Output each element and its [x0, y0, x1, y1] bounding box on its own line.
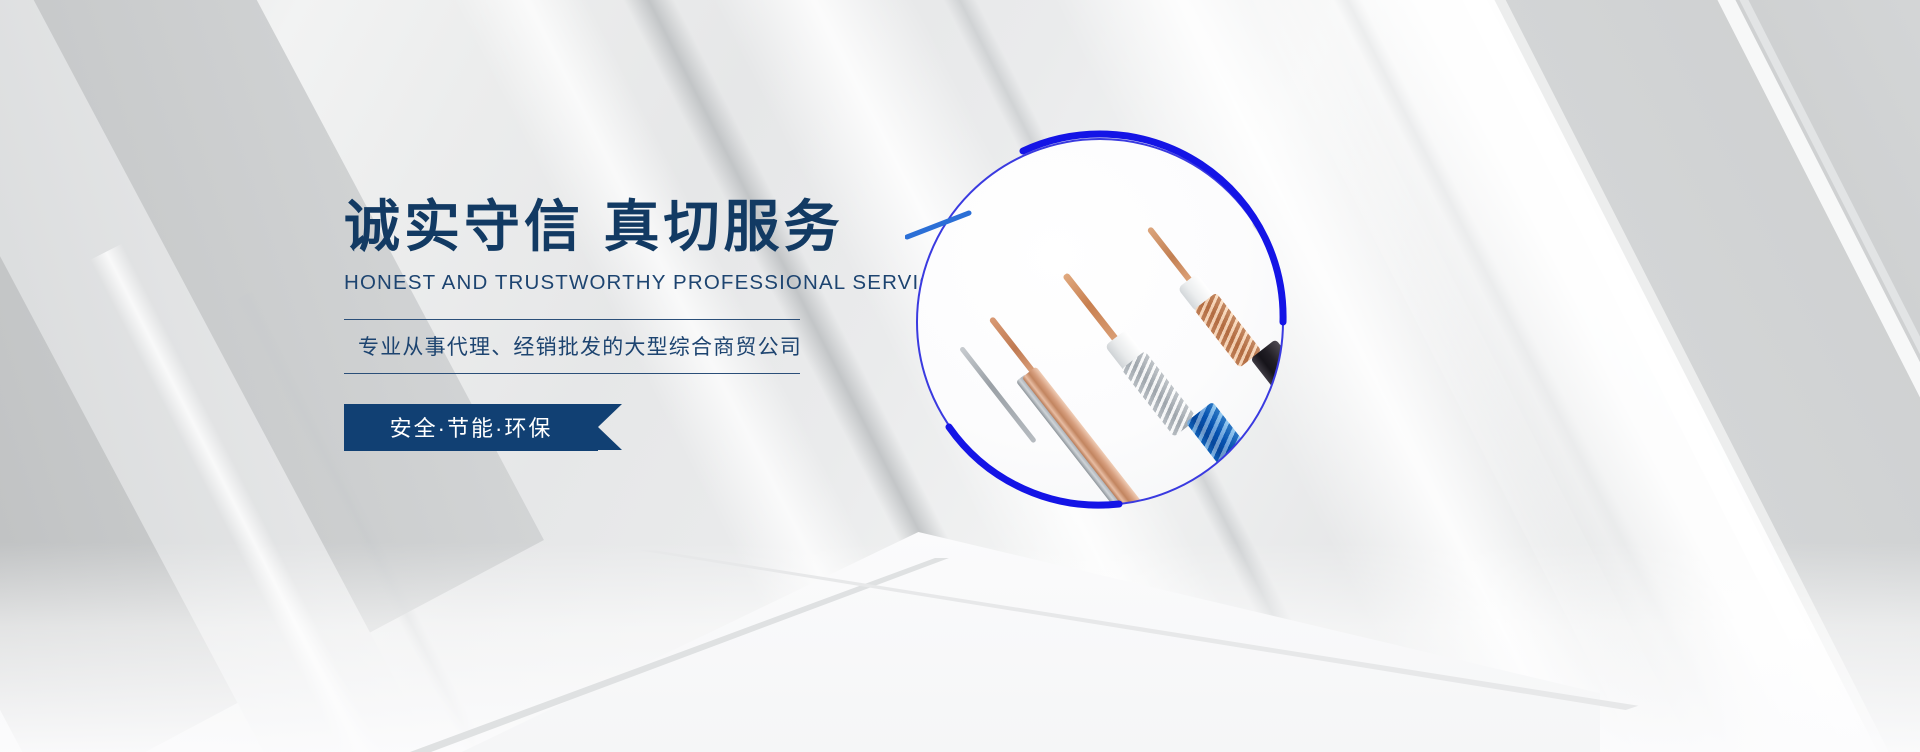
background-floor-edge-1	[200, 552, 1600, 752]
hero-subheadline-english: HONEST AND TRUSTWORTHY PROFESSIONAL SERV…	[344, 271, 854, 295]
hero-feature-badge[interactable]: 安全·节能·环保	[344, 404, 598, 451]
hero-subheadline-chinese: 专业从事代理、经销批发的大型综合商贸公司	[358, 331, 800, 361]
medallion-ring-arc-top	[1023, 134, 1283, 322]
hero-subtitle-rule-box: 专业从事代理、经销批发的大型综合商贸公司	[344, 319, 800, 374]
background-right-mass	[1395, 0, 1920, 752]
medallion-ring-group	[905, 127, 1295, 517]
background-right-bar-3	[1585, 0, 1920, 752]
hero-banner: 诚实守信 真切服务 HONEST AND TRUSTWORTHY PROFESS…	[0, 0, 1920, 752]
background-right-bar-2	[1362, 0, 1920, 752]
hero-headline: 诚实守信 真切服务	[344, 196, 854, 259]
background-floor-wedge	[180, 532, 1600, 752]
background-right-bar-4	[1607, 0, 1920, 752]
hero-feature-badge-label: 安全·节能·环保	[390, 411, 553, 443]
hero-text-block: 诚实守信 真切服务 HONEST AND TRUSTWORTHY PROFESS…	[344, 196, 854, 451]
background-floor-edge-2	[640, 542, 1920, 752]
medallion-ring-arc-bottom	[949, 427, 1119, 505]
medallion-accent-tick	[907, 213, 969, 237]
background-floor	[0, 542, 1920, 752]
background-right-bar-1	[1330, 0, 1920, 752]
product-medallion: RG6/U 75Ω	[905, 127, 1295, 517]
